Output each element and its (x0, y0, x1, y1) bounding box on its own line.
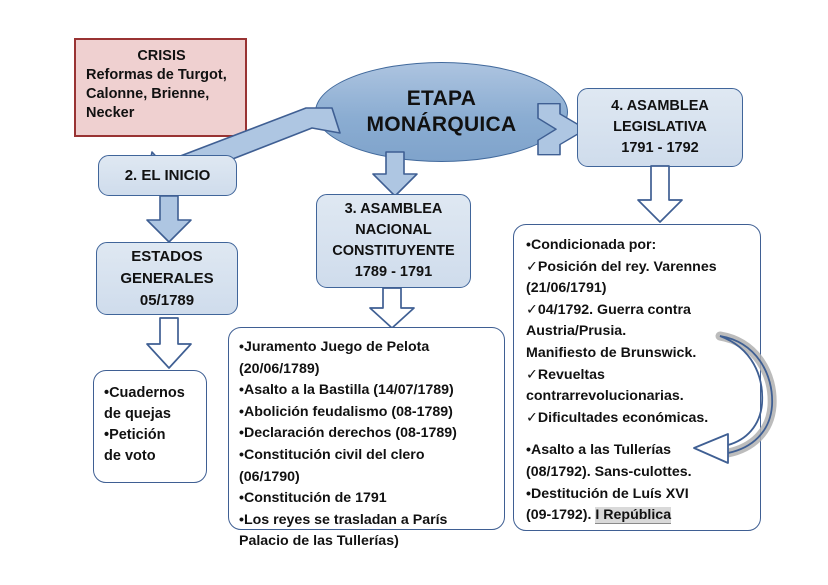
event-line-5: •Declaración derechos (08-1789) (239, 423, 498, 445)
cuadernos-box: •Cuadernos de quejas •Petición de voto (93, 370, 207, 483)
el-inicio-box: 2. EL INICIO (98, 155, 237, 196)
legislativa-line-3: 1791 - 1792 (611, 138, 709, 159)
republica-highlight: I República (595, 507, 671, 524)
estados-line-3: 05/1789 (120, 290, 213, 312)
detail-line-4: ✓04/1792. Guerra contra (526, 300, 752, 322)
detail-line-11: (08/1792). Sans-culottes. (526, 462, 752, 484)
cuadernos-line-1: •Cuadernos (104, 383, 200, 404)
cuadernos-line-2: de quejas (104, 404, 200, 425)
estados-line-1: ESTADOS (120, 246, 213, 268)
cuadernos-line-4: de voto (104, 446, 200, 467)
crisis-title: CRISIS (86, 47, 237, 66)
constituyente-events-box: •Juramento Juego de Pelota (20/06/1789) … (228, 327, 505, 530)
arrow-legislativa-to-details (634, 166, 686, 224)
detail-line-3: (21/06/1791) (526, 278, 752, 300)
curved-back-arrow (686, 322, 796, 462)
detail-last-prefix: (09-1792). (526, 507, 595, 523)
estados-generales-box: ESTADOS GENERALES 05/1789 (96, 242, 238, 315)
asamblea-legislativa-box: 4. ASAMBLEA LEGISLATIVA 1791 - 1792 (577, 88, 743, 167)
arrow-estados-to-cuadernos (143, 318, 195, 370)
arrow-asamblea-nacional-to-events (366, 288, 418, 330)
detail-line-2: ✓Posición del rey. Varennes (526, 257, 752, 279)
etapa-line-1: ETAPA (367, 86, 517, 112)
arrow-inicio-to-estados (143, 196, 195, 244)
detail-line-12: •Destitución de Luís XVI (526, 484, 752, 506)
event-line-10: Palacio de las Tullerías) (239, 531, 498, 553)
asamblea3-line-2: NACIONAL (332, 220, 454, 241)
asamblea-nacional-box: 3. ASAMBLEA NACIONAL CONSTITUYENTE 1789 … (316, 194, 471, 288)
event-line-3: •Asalto a la Bastilla (14/07/1789) (239, 380, 498, 402)
diagram-canvas: CRISIS Reformas de Turgot, Calonne, Brie… (0, 0, 828, 585)
estados-line-2: GENERALES (120, 268, 213, 290)
event-line-9: •Los reyes se trasladan a París (239, 510, 498, 532)
legislativa-line-1: 4. ASAMBLEA (611, 96, 709, 117)
arrow-etapa-to-asamblea-nacional (369, 152, 421, 198)
event-line-2: (20/06/1789) (239, 359, 498, 381)
etapa-monarquica-node: ETAPA MONÁRQUICA (315, 62, 568, 162)
inicio-label: 2. EL INICIO (125, 167, 211, 184)
asamblea3-line-3: CONSTITUYENTE (332, 241, 454, 262)
asamblea3-line-1: 3. ASAMBLEA (332, 199, 454, 220)
etapa-line-2: MONÁRQUICA (367, 112, 517, 138)
detail-line-13: (09-1792). I República (526, 505, 752, 527)
detail-line-1: •Condicionada por: (526, 235, 752, 257)
event-line-6: •Constitución civil del clero (239, 445, 498, 467)
cuadernos-line-3: •Petición (104, 425, 200, 446)
legislativa-line-2: LEGISLATIVA (611, 117, 709, 138)
event-line-8: •Constitución de 1791 (239, 488, 498, 510)
event-line-1: •Juramento Juego de Pelota (239, 337, 498, 359)
crisis-line-1: Reformas de Turgot, (86, 66, 237, 85)
event-line-7: (06/1790) (239, 467, 498, 489)
asamblea3-line-4: 1789 - 1791 (332, 262, 454, 283)
event-line-4: •Abolición feudalismo (08-1789) (239, 402, 498, 424)
